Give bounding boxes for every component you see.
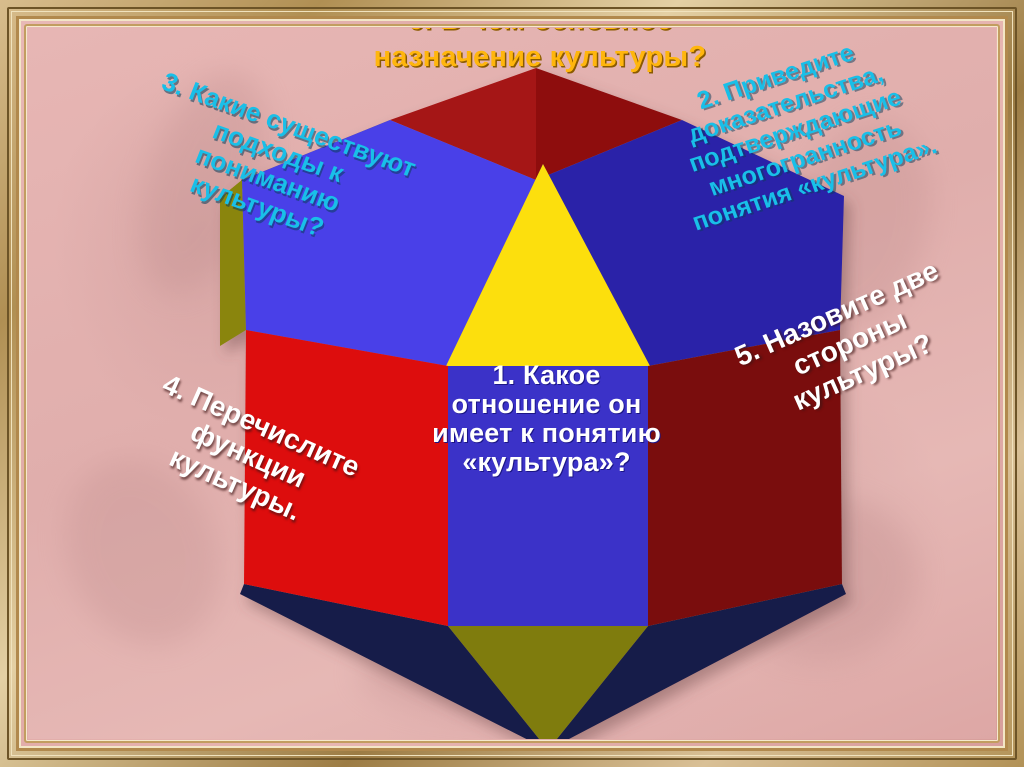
polyhedron-body	[220, 68, 846, 739]
slide-canvas: 6. В чём основное назначение культуры? 3…	[28, 28, 996, 739]
face-lower-left	[244, 330, 448, 626]
face-upper-left-rim	[220, 180, 246, 346]
face-lower-right	[648, 330, 842, 626]
culture-polyhedron-diagram	[28, 28, 996, 739]
slide-root: 6. В чём основное назначение культуры? 3…	[0, 0, 1024, 767]
face-center-front	[448, 366, 648, 626]
